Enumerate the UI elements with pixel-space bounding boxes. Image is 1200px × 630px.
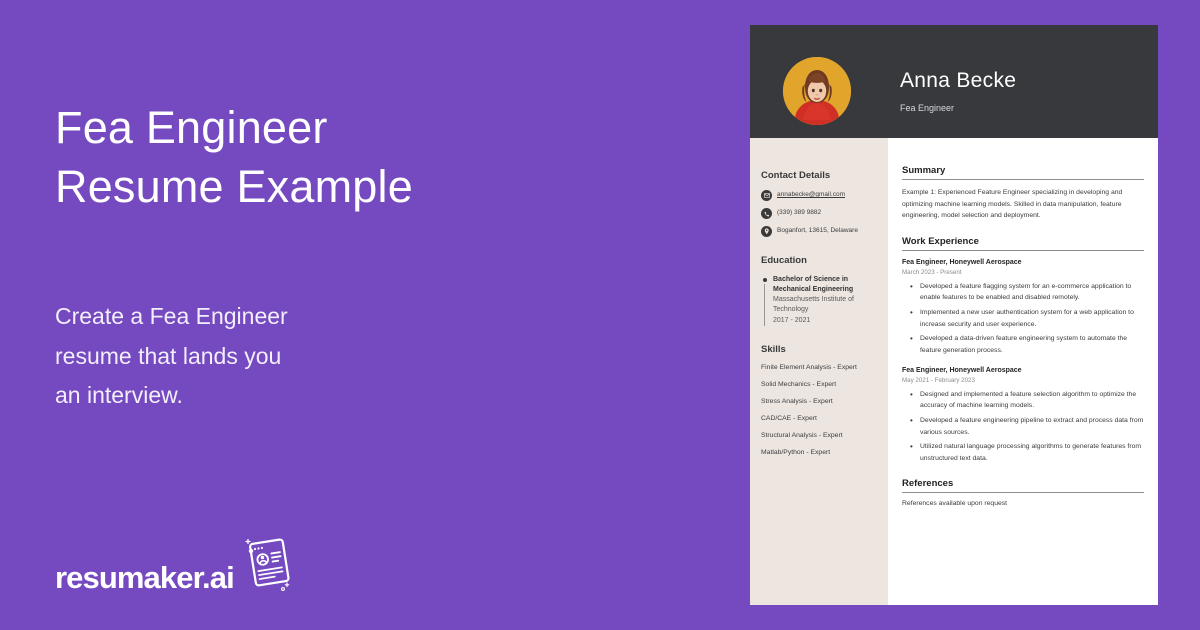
skill-item: Stress Analysis - Expert <box>761 398 878 405</box>
summary-text: Example 1: Experienced Feature Engineer … <box>902 187 1144 222</box>
education-item: Bachelor of Science in Mechanical Engine… <box>761 275 878 326</box>
education-bullet-dot <box>763 278 767 282</box>
education-school: Massachusetts Institute of Technology <box>773 295 878 315</box>
education-section: Education Bachelor of Science in Mechani… <box>761 255 878 326</box>
envelope-icon <box>761 190 772 201</box>
work-experience-section: Work Experience Fea Engineer, Honeywell … <box>902 236 1144 464</box>
job-bullet: Utilized natural language processing alg… <box>902 441 1144 464</box>
job-bullet-list: Designed and implemented a feature selec… <box>902 389 1144 464</box>
job-bullet: Designed and implemented a feature selec… <box>902 389 1144 412</box>
contact-item-email[interactable]: annabecke@gmail.com <box>761 190 878 201</box>
resumaker-logo[interactable]: resumaker.ai <box>55 534 292 593</box>
resume-document-icon <box>236 534 292 597</box>
location-pin-icon <box>761 226 772 237</box>
skill-item: CAD/CAE - Expert <box>761 415 878 422</box>
logo-wordmark: resumaker.ai <box>55 562 234 593</box>
references-heading: References <box>902 478 1144 493</box>
skill-item: Finite Element Analysis - Expert <box>761 364 878 371</box>
avatar <box>783 57 851 125</box>
education-degree: Bachelor of Science in Mechanical Engine… <box>773 275 878 295</box>
job-bullet-list: Developed a feature flagging system for … <box>902 281 1144 356</box>
references-section: References References available upon req… <box>902 478 1144 507</box>
summary-heading: Summary <box>902 165 1144 180</box>
contact-item-phone[interactable]: (339) 389 9882 <box>761 208 878 219</box>
resume-role: Fea Engineer <box>900 103 954 113</box>
job-dates: March 2023 - Present <box>902 269 1144 276</box>
contact-email-text: annabecke@gmail.com <box>777 191 845 199</box>
page-title: Fea Engineer Resume Example <box>55 98 695 217</box>
promo-subtitle: Create a Fea Engineer resume that lands … <box>55 297 415 416</box>
job-title: Fea Engineer, Honeywell Aerospace <box>902 366 1144 376</box>
skill-item: Structural Analysis - Expert <box>761 432 878 439</box>
promo-panel: Fea Engineer Resume Example Create a Fea… <box>0 0 750 630</box>
job-dates: May 2021 - February 2023 <box>902 377 1144 384</box>
references-text: References available upon request <box>902 500 1144 507</box>
job-title: Fea Engineer, Honeywell Aerospace <box>902 258 1144 268</box>
job-entry: Fea Engineer, Honeywell Aerospace March … <box>902 258 1144 356</box>
resume-sidebar: Contact Details annabecke@gmail.com (339… <box>750 138 888 605</box>
job-entry: Fea Engineer, Honeywell Aerospace May 20… <box>902 366 1144 464</box>
contact-item-location[interactable]: Boganfort, 13615, Delaware <box>761 226 878 237</box>
resume-preview-card[interactable]: Anna Becke Fea Engineer Contact Details … <box>750 25 1158 605</box>
education-item-body: Bachelor of Science in Mechanical Engine… <box>773 275 878 326</box>
resume-name: Anna Becke <box>900 69 1016 93</box>
contact-details-heading: Contact Details <box>761 170 878 181</box>
resume-main-column: Summary Example 1: Experienced Feature E… <box>888 138 1158 605</box>
education-heading: Education <box>761 255 878 266</box>
skill-item: Matlab/Python - Expert <box>761 449 878 456</box>
job-bullet: Developed a feature flagging system for … <box>902 281 1144 304</box>
skill-item: Solid Mechanics - Expert <box>761 381 878 388</box>
contact-location-text: Boganfort, 13615, Delaware <box>777 227 858 235</box>
job-bullet: Developed a data-driven feature engineer… <box>902 333 1144 356</box>
skills-heading: Skills <box>761 344 878 355</box>
education-timeline-marker <box>761 275 768 326</box>
contact-details-section: Contact Details annabecke@gmail.com (339… <box>761 170 878 237</box>
education-dates: 2017 - 2021 <box>773 316 878 326</box>
skills-section: Skills Finite Element Analysis - Expert … <box>761 344 878 456</box>
education-timeline-line <box>764 284 765 326</box>
job-bullet: Developed a feature engineering pipeline… <box>902 415 1144 438</box>
job-bullet: Implemented a new user authentication sy… <box>902 307 1144 330</box>
work-experience-heading: Work Experience <box>902 236 1144 251</box>
phone-icon <box>761 208 772 219</box>
contact-phone-text: (339) 389 9882 <box>777 209 821 217</box>
summary-section: Summary Example 1: Experienced Feature E… <box>902 165 1144 222</box>
